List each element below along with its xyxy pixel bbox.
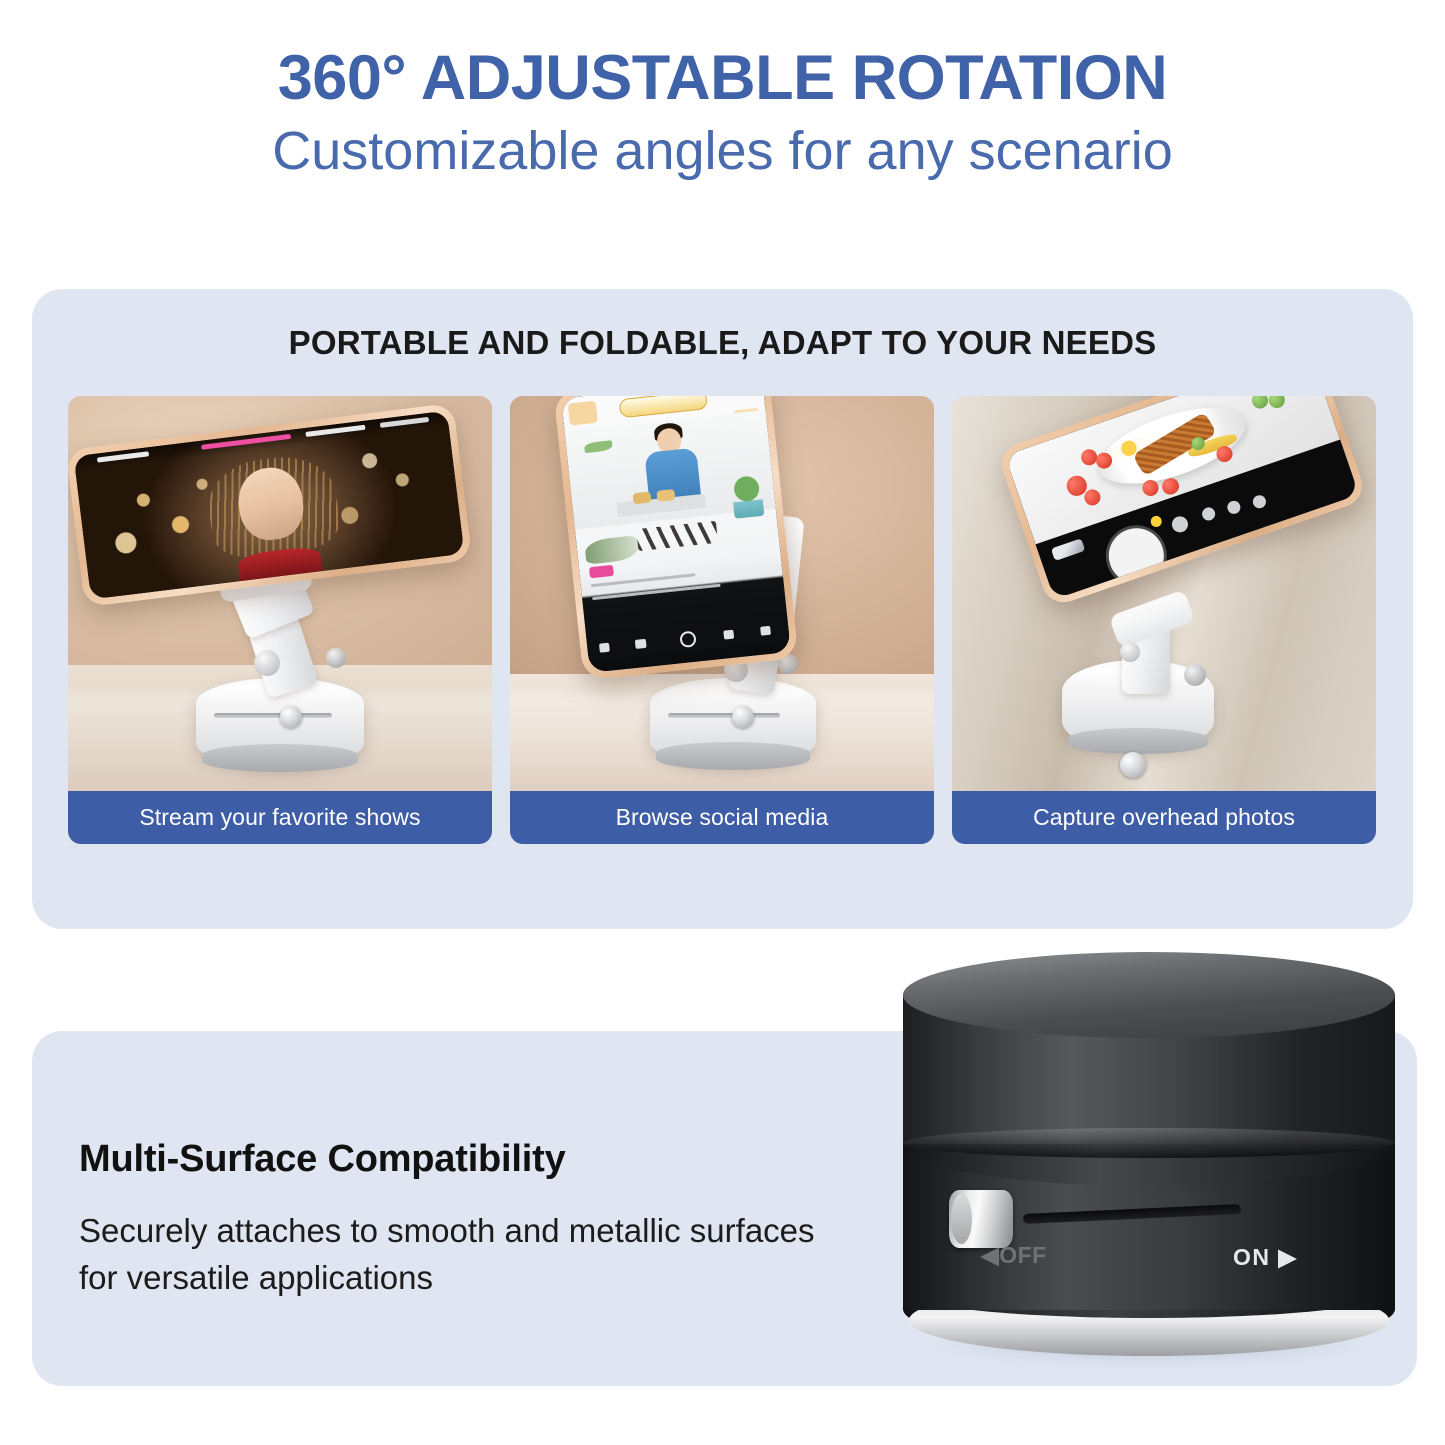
tile-caption: Browse social media [510,791,934,844]
product-photo-social-media [510,396,934,844]
use-case-tile: Capture overhead photos [952,396,1376,844]
feature-description: Securely attaches to smooth and metallic… [79,1208,849,1302]
product-photo-overhead-camera [952,396,1376,844]
panel-heading: PORTABLE AND FOLDABLE, ADAPT TO YOUR NEE… [32,324,1413,362]
page-subtitle: Customizable angles for any scenario [0,122,1445,181]
rotating-base-device-photo: ◀OFF ON ▶ [895,952,1403,1372]
switch-off-label: ◀OFF [981,1242,1047,1269]
power-switch-knob[interactable] [949,1190,1013,1248]
portable-foldable-panel: PORTABLE AND FOLDABLE, ADAPT TO YOUR NEE… [32,289,1413,929]
header-section: 360° ADJUSTABLE ROTATION Customizable an… [0,0,1445,250]
device-seam [903,1128,1395,1158]
feature-title: Multi-Surface Compatibility [79,1138,566,1181]
use-case-tile-row: Stream your favorite shows [68,396,1377,844]
use-case-tile: Browse social media [510,396,934,844]
page-title: 360° ADJUSTABLE ROTATION [0,44,1445,112]
product-photo-streaming [68,396,492,844]
device-top-face [903,952,1395,1038]
tile-caption: Capture overhead photos [952,791,1376,844]
product-infographic-page: 360° ADJUSTABLE ROTATION Customizable an… [0,0,1445,1445]
use-case-tile: Stream your favorite shows [68,396,492,844]
tile-caption: Stream your favorite shows [68,791,492,844]
switch-on-label: ON ▶ [1233,1244,1298,1271]
